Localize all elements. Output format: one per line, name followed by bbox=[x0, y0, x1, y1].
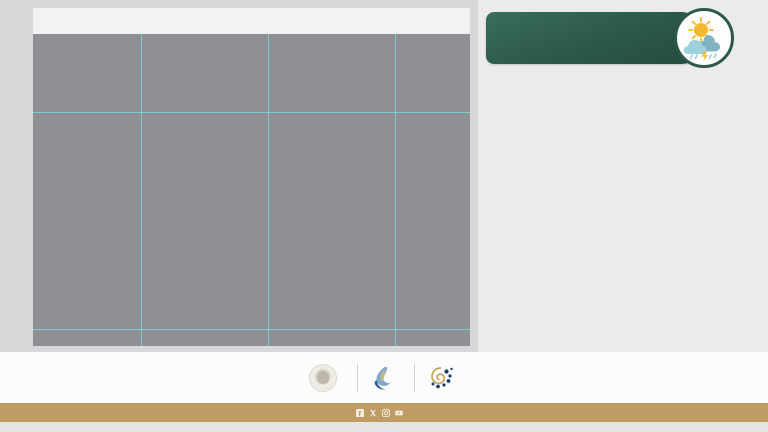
logo-divider-2 bbox=[414, 364, 415, 392]
footer-bottom-strip bbox=[0, 422, 768, 432]
longitude-gridline-b bbox=[268, 34, 269, 346]
satellite-infrared-canvas bbox=[33, 34, 470, 346]
latitude-gridline-30 bbox=[33, 112, 470, 113]
instagram-icon[interactable] bbox=[382, 409, 390, 417]
footer-social-band bbox=[0, 403, 768, 422]
x-twitter-icon[interactable] bbox=[369, 409, 377, 417]
logo-conagua bbox=[371, 365, 401, 391]
sun-cloud-rain-lightning-icon bbox=[674, 8, 734, 68]
satellite-color-legend bbox=[33, 8, 470, 34]
region-title-banner bbox=[486, 12, 700, 64]
longitude-gridline-c bbox=[395, 34, 396, 346]
logo-smn bbox=[428, 365, 460, 391]
legend-tick-labels bbox=[35, 25, 468, 34]
latitude-gridline-20 bbox=[33, 329, 470, 330]
legend-title bbox=[33, 8, 470, 16]
smn-spiral-icon bbox=[428, 365, 454, 391]
longitude-gridline-a bbox=[141, 34, 142, 346]
logo-divider-1 bbox=[357, 364, 358, 392]
youtube-icon[interactable] bbox=[395, 409, 403, 417]
satellite-panel bbox=[33, 8, 470, 346]
forecast-info-panel bbox=[478, 0, 768, 352]
satellite-image bbox=[33, 34, 470, 346]
legend-color-bar bbox=[35, 16, 468, 25]
water-drop-icon bbox=[371, 365, 395, 391]
logo-medio-ambiente bbox=[309, 364, 344, 392]
forecast-infographic bbox=[0, 0, 768, 432]
mexico-seal-icon bbox=[309, 364, 337, 392]
footer-logo-band bbox=[0, 352, 768, 403]
facebook-icon[interactable] bbox=[356, 409, 364, 417]
